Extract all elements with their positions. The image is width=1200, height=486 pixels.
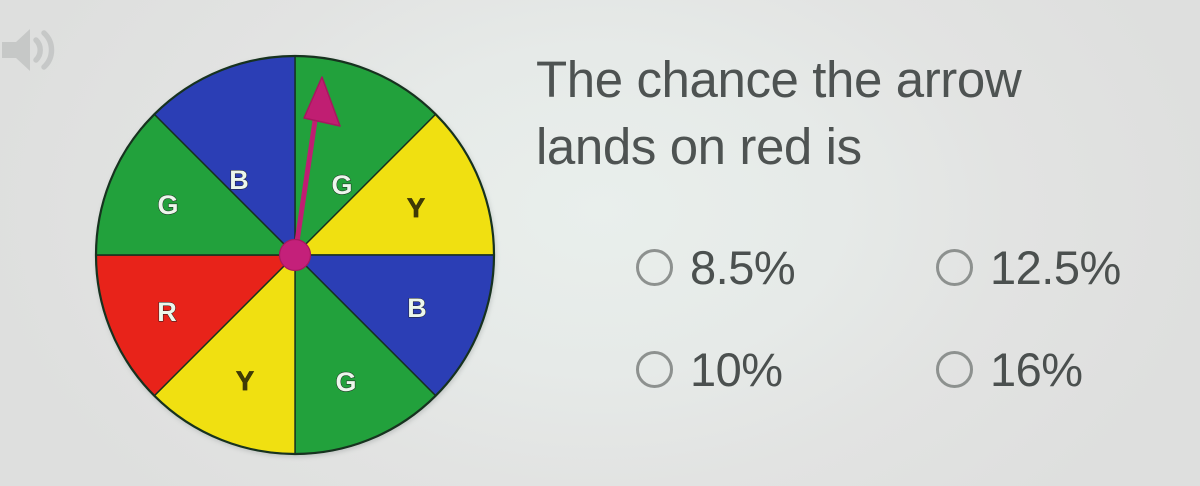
question-line-2: lands on red is bbox=[536, 113, 1176, 180]
wheel-label-2: B bbox=[407, 293, 427, 323]
radio-button-icon[interactable] bbox=[936, 249, 973, 286]
spinner-wheel: G Y B G Y R G B bbox=[94, 52, 498, 462]
radio-button-icon[interactable] bbox=[636, 351, 673, 388]
answer-option-10[interactable]: 10% bbox=[636, 346, 936, 393]
speaker-audio-icon[interactable] bbox=[0, 22, 62, 78]
answer-option-label: 12.5% bbox=[990, 244, 1121, 291]
answer-option-label: 8.5% bbox=[690, 244, 795, 291]
radio-button-icon[interactable] bbox=[936, 351, 973, 388]
wheel-label-1: Y bbox=[407, 193, 425, 223]
radio-button-icon[interactable] bbox=[636, 249, 673, 286]
answer-option-12-5[interactable]: 12.5% bbox=[936, 244, 1196, 291]
wheel-label-4: Y bbox=[236, 366, 254, 396]
spinner-hub bbox=[280, 240, 311, 271]
answer-option-label: 10% bbox=[690, 346, 783, 393]
wheel-label-0: G bbox=[331, 170, 352, 200]
question-line-1: The chance the arrow bbox=[536, 46, 1176, 113]
answer-option-16[interactable]: 16% bbox=[936, 346, 1196, 393]
wheel-label-3: G bbox=[335, 367, 356, 397]
wheel-label-6: G bbox=[157, 190, 178, 220]
answer-option-8-5[interactable]: 8.5% bbox=[636, 244, 936, 291]
answer-options: 8.5% 12.5% 10% 16% bbox=[636, 216, 1196, 420]
wheel-label-7: B bbox=[229, 165, 249, 195]
wheel-label-5: R bbox=[157, 297, 177, 327]
question-screen: G Y B G Y R G B The chance the arrow lan… bbox=[0, 0, 1200, 486]
answer-option-label: 16% bbox=[990, 346, 1083, 393]
question-text: The chance the arrow lands on red is bbox=[536, 46, 1176, 181]
